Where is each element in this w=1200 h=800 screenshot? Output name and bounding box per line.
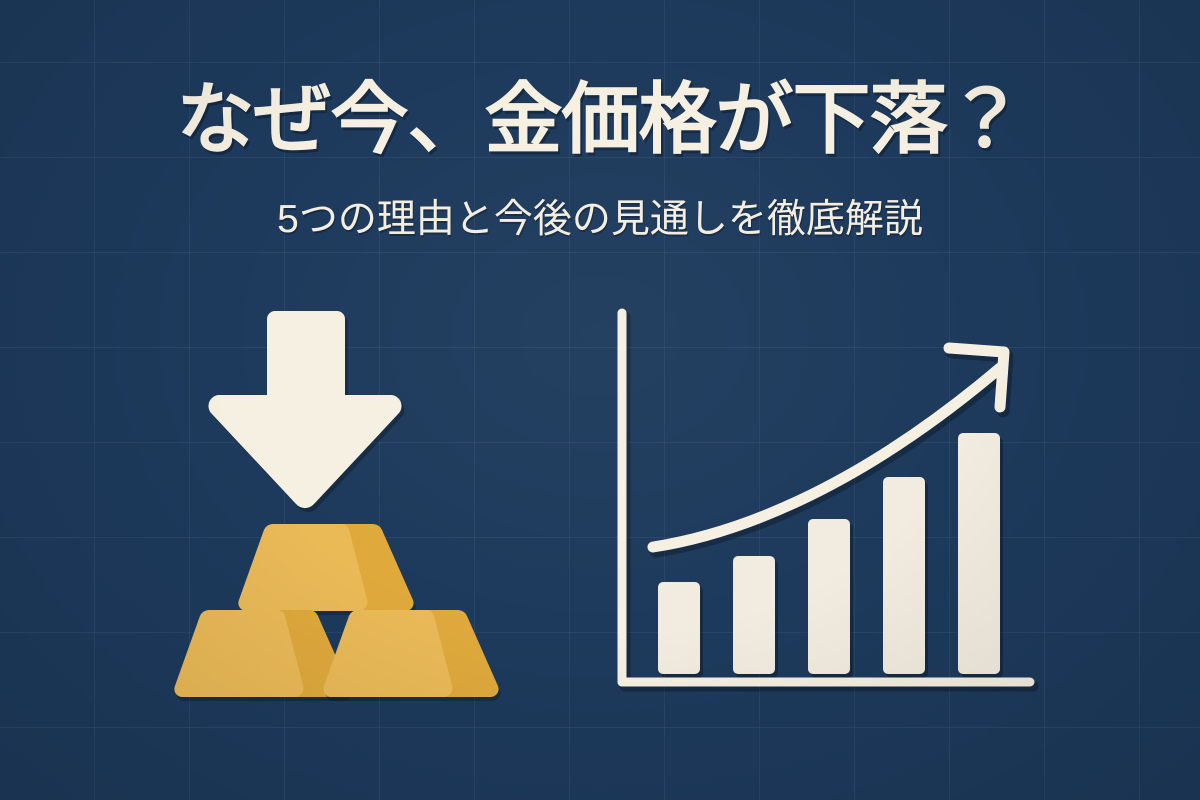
page-subtitle: 5つの理由と今後の見通しを徹底解説 (0, 197, 1200, 243)
gold-bars-illustration (155, 295, 505, 705)
bar-chart-illustration (600, 300, 1050, 705)
down-arrow-icon (208, 311, 401, 508)
gold-bar-top (238, 524, 415, 615)
trend-arrow-icon (653, 348, 1004, 547)
gold-bar-bottom-left-light-face (174, 610, 303, 697)
gold-bar-bottom-right-light-face (323, 610, 452, 697)
chart-bar-3 (808, 519, 850, 674)
chart-bar-5 (958, 433, 1000, 674)
thumbnail-canvas: なぜ今、金価格が下落？ 5つの理由と今後の見通しを徹底解説 (0, 0, 1200, 800)
chart-illustration-svg (600, 300, 1050, 705)
page-title: なぜ今、金価格が下落？ (0, 76, 1200, 162)
chart-bar-4 (883, 477, 925, 674)
gold-bar-bottom-right (323, 610, 500, 701)
chart-bar-2 (733, 556, 775, 674)
chart-bar-1 (658, 582, 700, 674)
chart-bars (658, 433, 1000, 674)
gold-illustration-svg (155, 295, 505, 705)
gold-bar-top-light-face (238, 524, 367, 611)
